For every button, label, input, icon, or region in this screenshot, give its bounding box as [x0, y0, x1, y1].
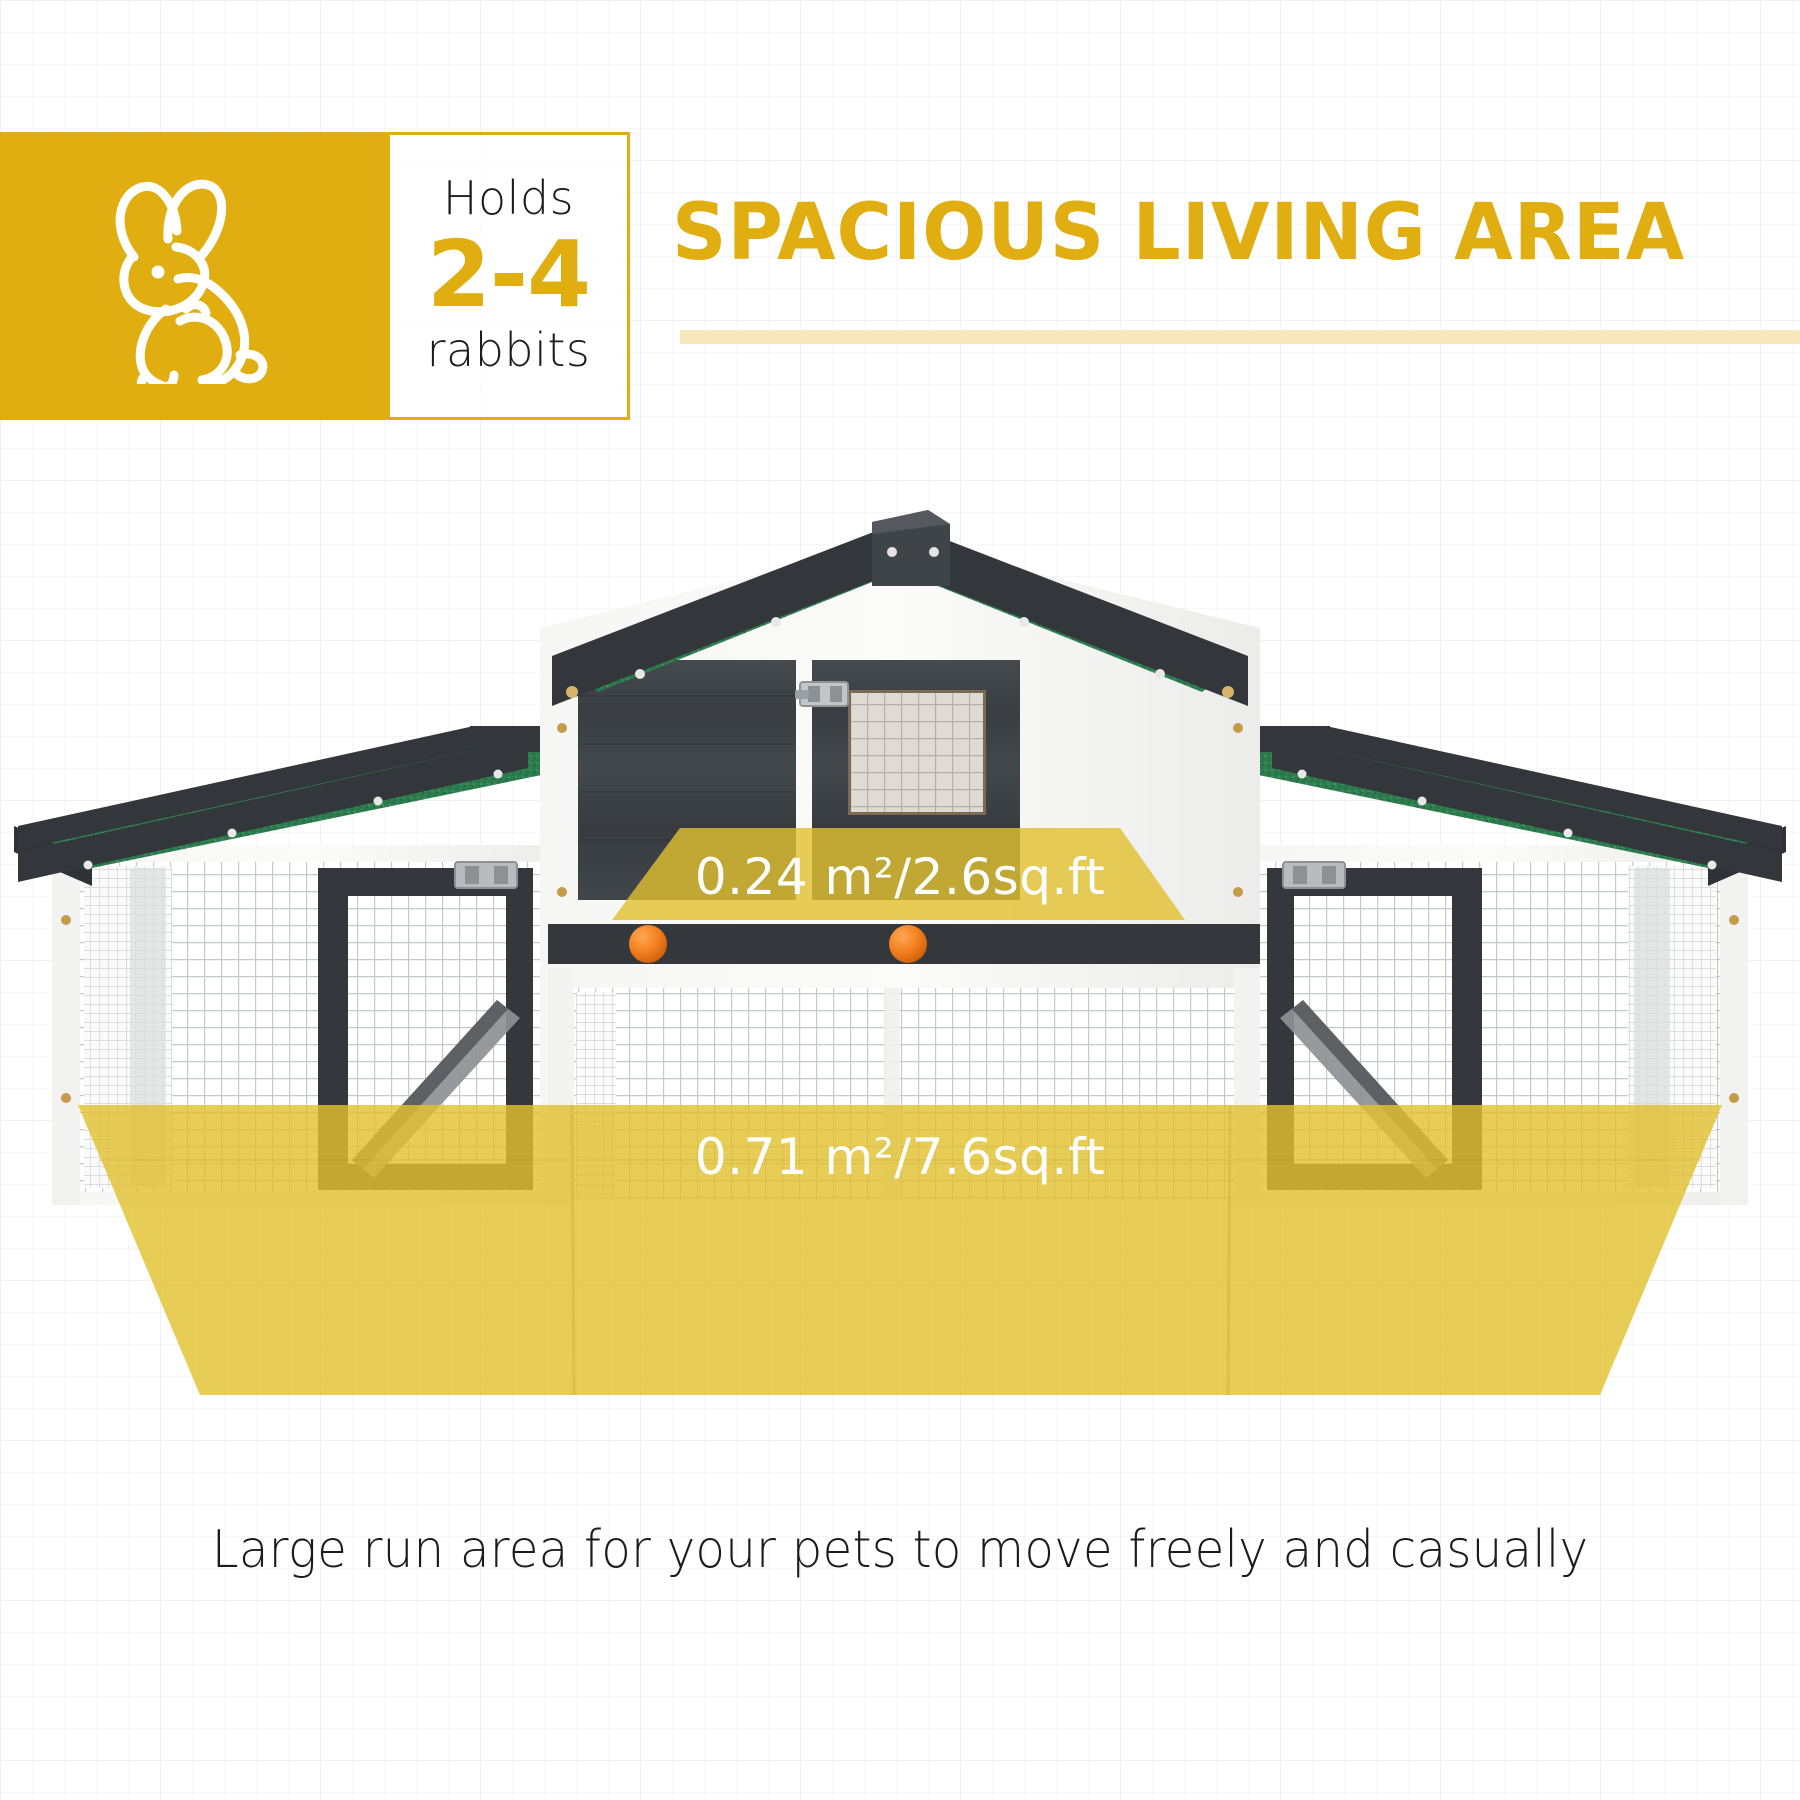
badge-suffix-label: rabbits [427, 326, 591, 374]
rabbit-icon-panel [0, 132, 390, 420]
upper-area-overlay [612, 828, 1185, 920]
capacity-text-panel: Holds 2-4 rabbits [390, 132, 630, 420]
rabbit-icon [70, 169, 320, 384]
lower-area-overlay [78, 1105, 1722, 1395]
capacity-badge: Holds 2-4 rabbits [0, 132, 630, 420]
bottom-caption: Large run area for your pets to move fre… [63, 1520, 1737, 1580]
badge-count-label: 2-4 [427, 224, 590, 325]
orange-latch-knob-left [629, 925, 667, 963]
headline-title: SPACIOUS LIVING AREA [672, 194, 1766, 272]
product-photo [0, 500, 1800, 1420]
rabbit-eye [152, 265, 165, 278]
badge-prefix-label: Holds [443, 174, 574, 222]
headline-underline-rule [680, 330, 1800, 344]
orange-latch-knob-right [889, 925, 927, 963]
marketing-image: Holds 2-4 rabbits SPACIOUS LIVING AREA [0, 0, 1800, 1800]
